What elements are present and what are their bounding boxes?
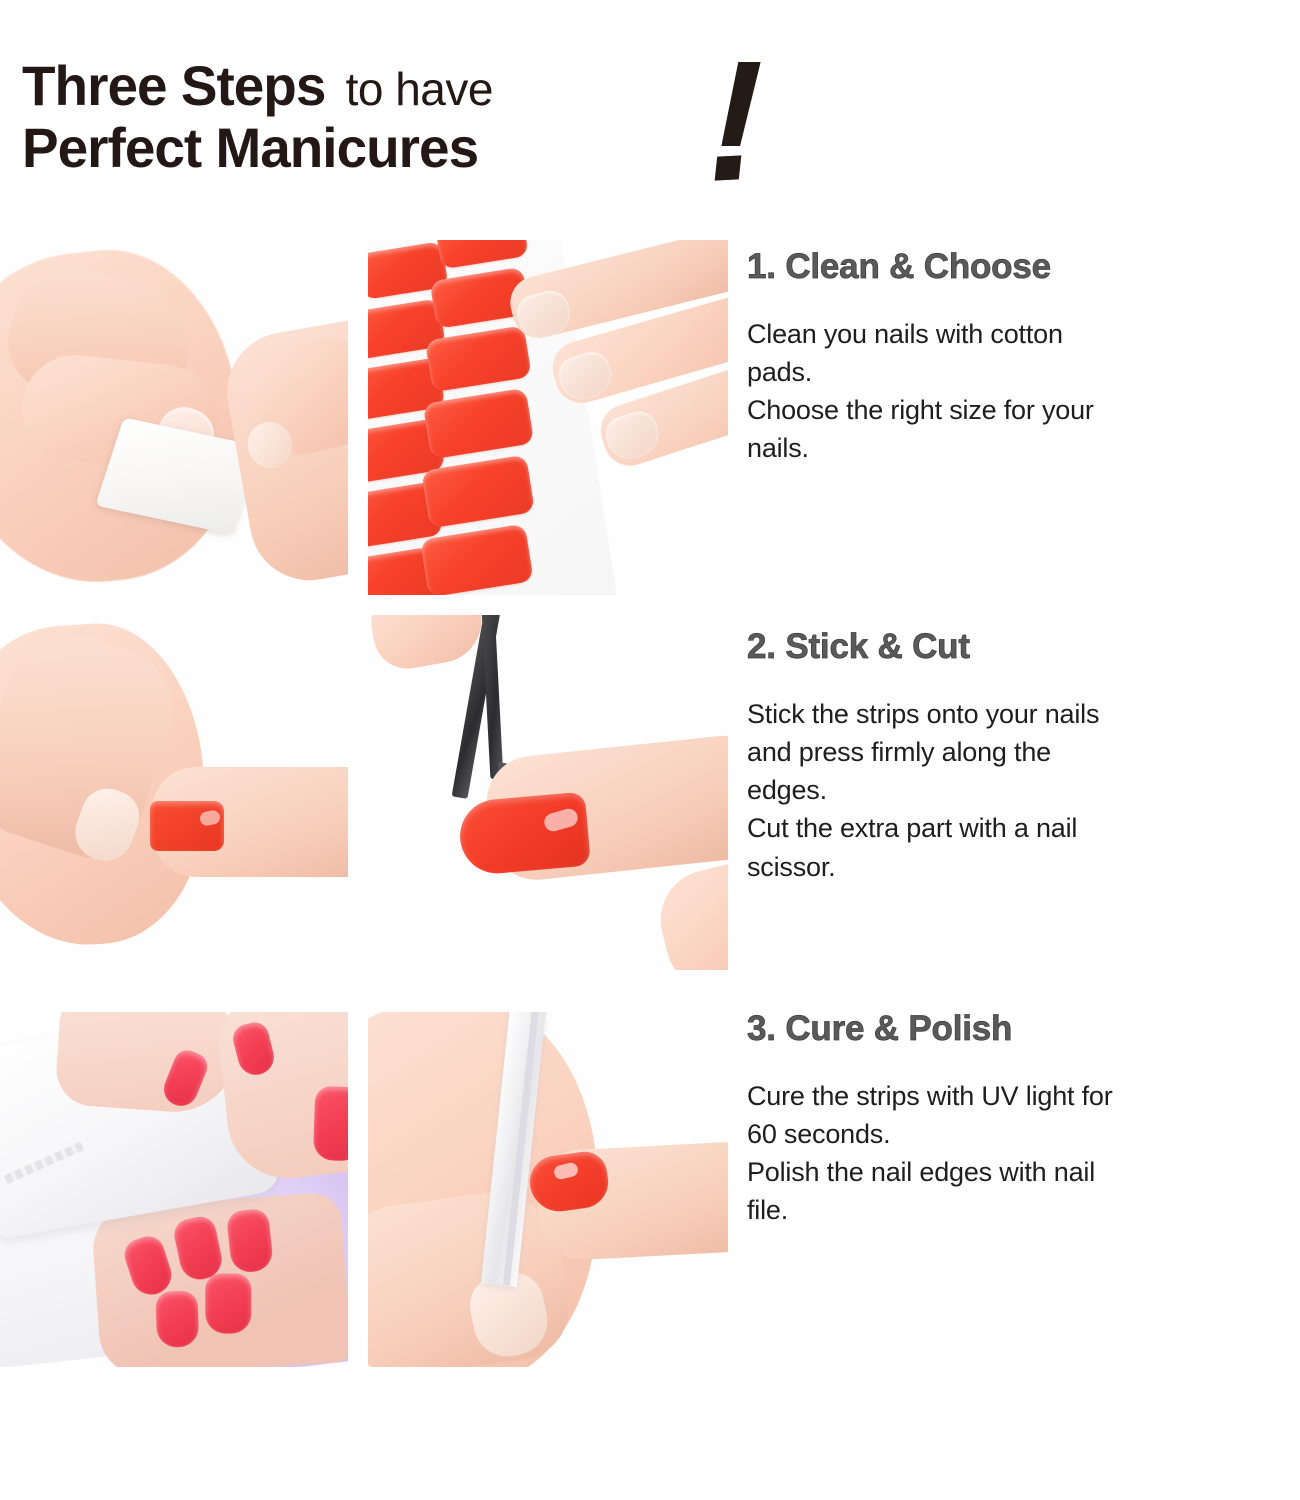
step-1-title: 1. Clean & Choose — [747, 248, 1300, 287]
step-3-line-3: Polish the nail edges with nail — [747, 1153, 1300, 1191]
step-2-title: 2. Stick & Cut — [747, 628, 1300, 667]
exclamation-mark-icon — [700, 62, 790, 192]
step-2-body: Stick the strips onto your nails and pre… — [747, 695, 1300, 887]
photo-stick-strip-on-nail — [0, 615, 348, 970]
photo-cut-with-scissors — [368, 615, 728, 970]
exclamation-bar — [721, 62, 760, 146]
infographic-page: Three Stepsto have Perfect Manicures — [0, 0, 1300, 1500]
step-2-line-2: and press firmly along the — [747, 733, 1300, 771]
red-nail — [171, 1214, 225, 1283]
step-1-line-2: pads. — [747, 353, 1300, 391]
photo-nail-strip-sheet — [368, 240, 728, 595]
red-nail-strip — [150, 801, 224, 851]
headline-strong-2: Perfect Manicures — [22, 120, 478, 176]
red-nail — [205, 1274, 251, 1334]
red-nail — [159, 1046, 212, 1111]
photo-clean-with-cotton-pad — [0, 240, 348, 595]
step-3-line-1: Cure the strips with UV light for — [747, 1077, 1300, 1115]
photo-scene — [0, 615, 348, 970]
step-3-body: Cure the strips with UV light for 60 sec… — [747, 1077, 1300, 1230]
photo-polish-with-nail-file — [368, 1012, 728, 1367]
photo-scene — [368, 240, 728, 595]
red-nail — [230, 1019, 278, 1078]
step-3-title: 3. Cure & Polish — [747, 1010, 1300, 1049]
step-1-line-4: nails. — [747, 429, 1300, 467]
photo-scene — [0, 1012, 348, 1367]
red-nail — [226, 1208, 274, 1274]
exclamation-dot — [715, 155, 742, 180]
step-2-line-3: edges. — [747, 771, 1300, 809]
step-3-line-2: 60 seconds. — [747, 1115, 1300, 1153]
step-3-line-4: file. — [747, 1191, 1300, 1229]
step-1-body: Clean you nails with cotton pads. Choose… — [747, 315, 1300, 468]
photo-scene — [0, 240, 348, 595]
photo-grid — [0, 240, 735, 1375]
red-nail — [155, 1290, 199, 1347]
hand-holding-scissors — [368, 615, 488, 674]
photo-cure-under-uv-lamp — [0, 1012, 348, 1367]
red-nail — [121, 1232, 177, 1300]
red-nail — [313, 1086, 348, 1162]
headline-strong-1: Three Steps — [22, 58, 325, 114]
step-1-line-1: Clean you nails with cotton — [747, 315, 1300, 353]
hand-under-lamp — [90, 1191, 348, 1367]
headline-light-1: to have — [346, 66, 493, 112]
lamp-brand-mark — [4, 1142, 84, 1184]
step-2-line-1: Stick the strips onto your nails — [747, 695, 1300, 733]
nail-strip — [420, 524, 534, 595]
red-nail — [457, 792, 591, 877]
photo-scene — [368, 1012, 728, 1367]
step-2: 2. Stick & Cut Stick the strips onto you… — [747, 628, 1300, 886]
photo-scene — [368, 615, 728, 970]
step-1: 1. Clean & Choose Clean you nails with c… — [747, 248, 1300, 468]
step-3: 3. Cure & Polish Cure the strips with UV… — [747, 1010, 1300, 1230]
step-2-line-5: scissor. — [747, 848, 1300, 886]
step-2-line-4: Cut the extra part with a nail — [747, 809, 1300, 847]
step-1-line-3: Choose the right size for your — [747, 391, 1300, 429]
supporting-hand — [650, 854, 728, 970]
